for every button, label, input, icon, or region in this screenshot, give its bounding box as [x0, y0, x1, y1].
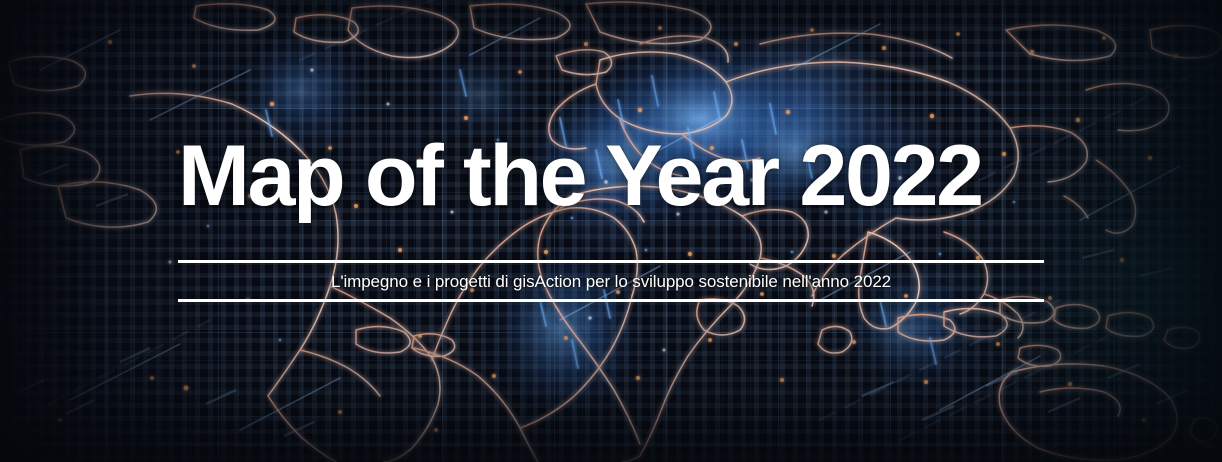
divider-bottom: [178, 299, 1044, 302]
page-title: Map of the Year 2022: [178, 133, 982, 219]
divider-top: [178, 260, 1044, 263]
hero-banner: Map of the Year 2022 L'impegno e i proge…: [0, 0, 1222, 462]
hero-content: Map of the Year 2022 L'impegno e i proge…: [178, 0, 1044, 462]
page-subtitle: L'impegno e i progetti di gisAction per …: [178, 268, 1044, 296]
